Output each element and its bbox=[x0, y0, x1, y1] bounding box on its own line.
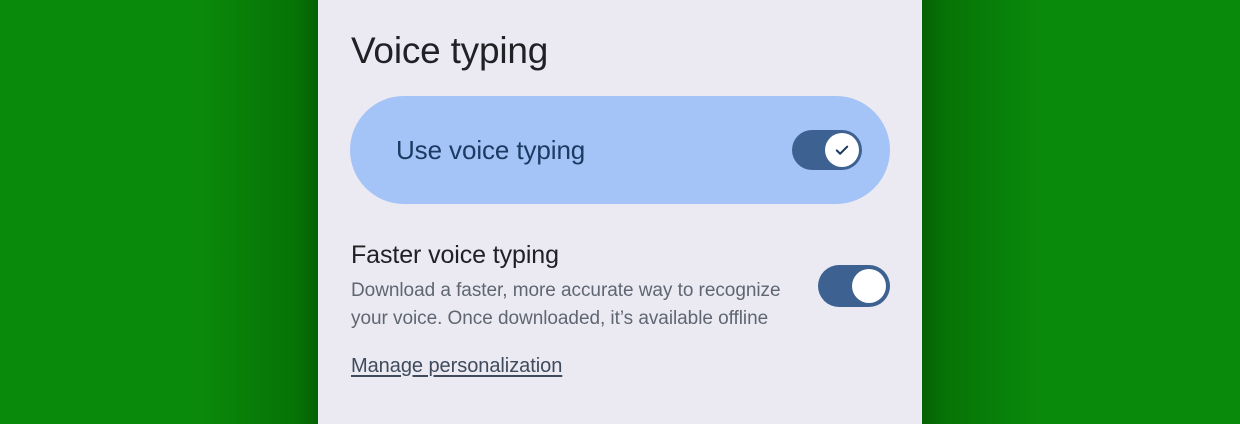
screen: Voice typing Use voice typing Faster voi… bbox=[0, 0, 1240, 424]
use-voice-typing-label: Use voice typing bbox=[396, 135, 792, 166]
toggle-thumb bbox=[825, 133, 859, 167]
faster-voice-typing-text: Faster voice typing Download a faster, m… bbox=[351, 240, 818, 332]
toggle-thumb bbox=[852, 269, 886, 303]
settings-panel: Voice typing Use voice typing Faster voi… bbox=[318, 0, 922, 424]
faster-voice-typing-title: Faster voice typing bbox=[351, 240, 794, 270]
setting-row-faster-voice-typing[interactable]: Faster voice typing Download a faster, m… bbox=[350, 240, 890, 332]
checkmark-icon bbox=[833, 141, 851, 159]
link-row: Manage personalization bbox=[350, 355, 890, 378]
backdrop-left bbox=[0, 0, 318, 424]
setting-row-use-voice-typing[interactable]: Use voice typing bbox=[350, 96, 890, 204]
faster-voice-typing-toggle[interactable] bbox=[818, 265, 890, 307]
use-voice-typing-toggle[interactable] bbox=[792, 130, 862, 170]
backdrop-right bbox=[922, 0, 1240, 424]
manage-personalization-link[interactable]: Manage personalization bbox=[351, 355, 562, 378]
page-title: Voice typing bbox=[350, 0, 890, 74]
faster-voice-typing-description: Download a faster, more accurate way to … bbox=[351, 277, 794, 332]
